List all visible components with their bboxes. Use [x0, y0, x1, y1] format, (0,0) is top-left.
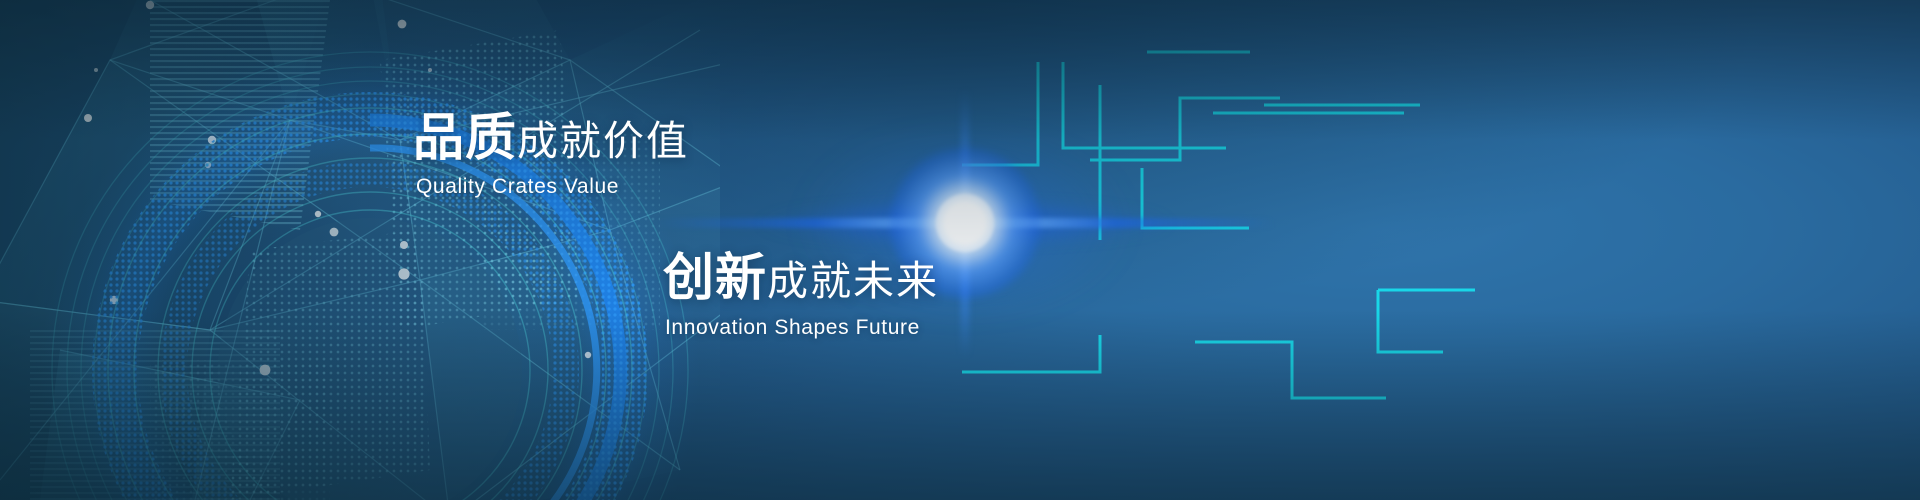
slogan-quality-cn-light: 成就价值 [517, 118, 689, 164]
slogan-innovation: 创新成就未来 Innovation Shapes Future [663, 252, 939, 340]
vignette-overlay [0, 0, 1920, 500]
slogan-innovation-english: Innovation Shapes Future [665, 316, 939, 340]
slogan-quality-english: Quality Crates Value [416, 175, 689, 199]
slogan-innovation-cn-strong: 创新 [663, 249, 767, 306]
slogan-innovation-chinese: 创新成就未来 [663, 252, 939, 303]
slogan-quality: 品质成就价值 Quality Crates Value [413, 112, 689, 199]
hero-banner: 品质成就价值 Quality Crates Value 创新成就未来 Innov… [0, 0, 1920, 500]
slogan-quality-chinese: 品质成就价值 [413, 112, 689, 163]
slogan-quality-cn-strong: 品质 [413, 109, 517, 166]
slogan-innovation-cn-light: 成就未来 [767, 258, 939, 304]
